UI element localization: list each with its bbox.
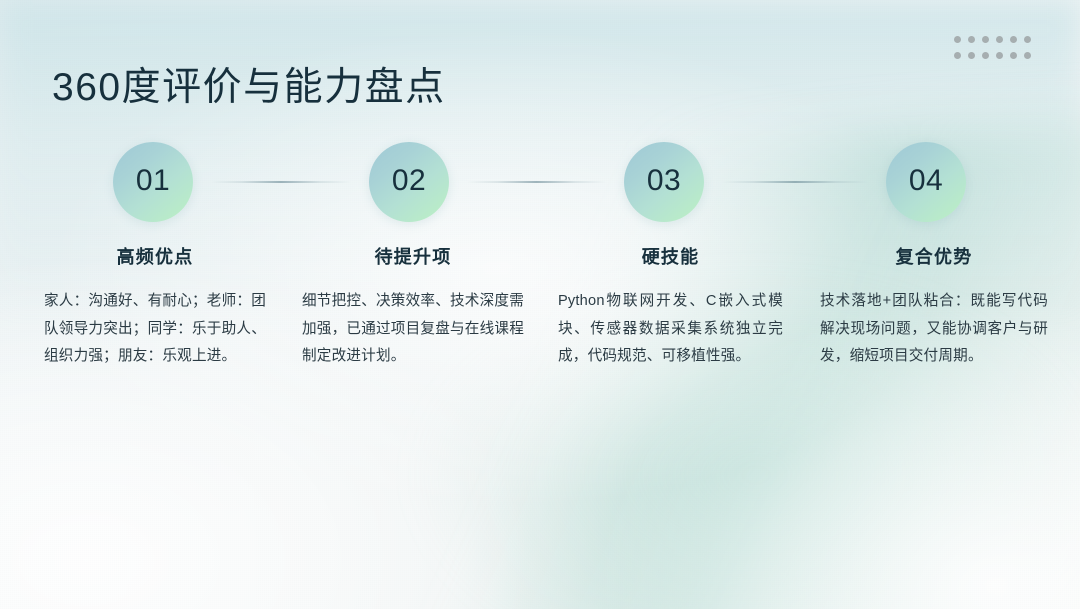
decorative-dot (982, 36, 989, 43)
column-heading: 复合优势 (820, 244, 1048, 270)
content-column-03: 硬技能Python物联网开发、C嵌入式模块、传感器数据采集系统独立完成，代码规范… (558, 244, 783, 371)
timeline-step-number: 02 (392, 166, 426, 196)
decorative-dot (996, 36, 1003, 43)
content-column-01: 高频优点家人：沟通好、有耐心；老师：团队领导力突出；同学：乐于助人、组织力强；朋… (44, 244, 266, 371)
timeline-connector (722, 181, 868, 183)
timeline-step-circle-01[interactable]: 01 (113, 142, 193, 222)
decorative-dot (968, 36, 975, 43)
decorative-dot (996, 52, 1003, 59)
decorative-dot (954, 52, 961, 59)
decorative-dot (982, 52, 989, 59)
timeline-connector (467, 181, 606, 183)
decorative-dot (954, 36, 961, 43)
column-body-text: 家人：沟通好、有耐心；老师：团队领导力突出；同学：乐于助人、组织力强；朋友：乐观… (44, 288, 266, 371)
column-heading: 待提升项 (302, 244, 524, 270)
timeline-connector (211, 181, 351, 183)
decorative-dot (1024, 52, 1031, 59)
decorative-dot (1010, 52, 1017, 59)
decorative-dot-grid (954, 36, 1038, 68)
decorative-dot (1024, 36, 1031, 43)
slide-canvas: 360度评价与能力盘点 01020304 高频优点家人：沟通好、有耐心；老师：团… (0, 0, 1080, 609)
column-heading: 高频优点 (44, 244, 266, 270)
timeline-step-number: 01 (136, 166, 170, 196)
column-body-text: 细节把控、决策效率、技术深度需加强，已通过项目复盘与在线课程制定改进计划。 (302, 288, 524, 371)
column-heading: 硬技能 (558, 244, 783, 270)
timeline-step-number: 04 (909, 166, 943, 196)
decorative-dot (968, 52, 975, 59)
timeline-step-circle-02[interactable]: 02 (369, 142, 449, 222)
timeline-step-circle-03[interactable]: 03 (624, 142, 704, 222)
decorative-dot (1010, 36, 1017, 43)
content-column-04: 复合优势技术落地+团队粘合：既能写代码解决现场问题，又能协调客户与研发，缩短项目… (820, 244, 1048, 371)
column-body-text: Python物联网开发、C嵌入式模块、传感器数据采集系统独立完成，代码规范、可移… (558, 288, 783, 371)
column-body-text: 技术落地+团队粘合：既能写代码解决现场问题，又能协调客户与研发，缩短项目交付周期… (820, 288, 1048, 371)
timeline-step-number: 03 (647, 166, 681, 196)
page-title: 360度评价与能力盘点 (52, 62, 446, 114)
timeline-step-circle-04[interactable]: 04 (886, 142, 966, 222)
timeline-row: 01020304 (0, 142, 1080, 222)
content-column-02: 待提升项细节把控、决策效率、技术深度需加强，已通过项目复盘与在线课程制定改进计划… (302, 244, 524, 371)
